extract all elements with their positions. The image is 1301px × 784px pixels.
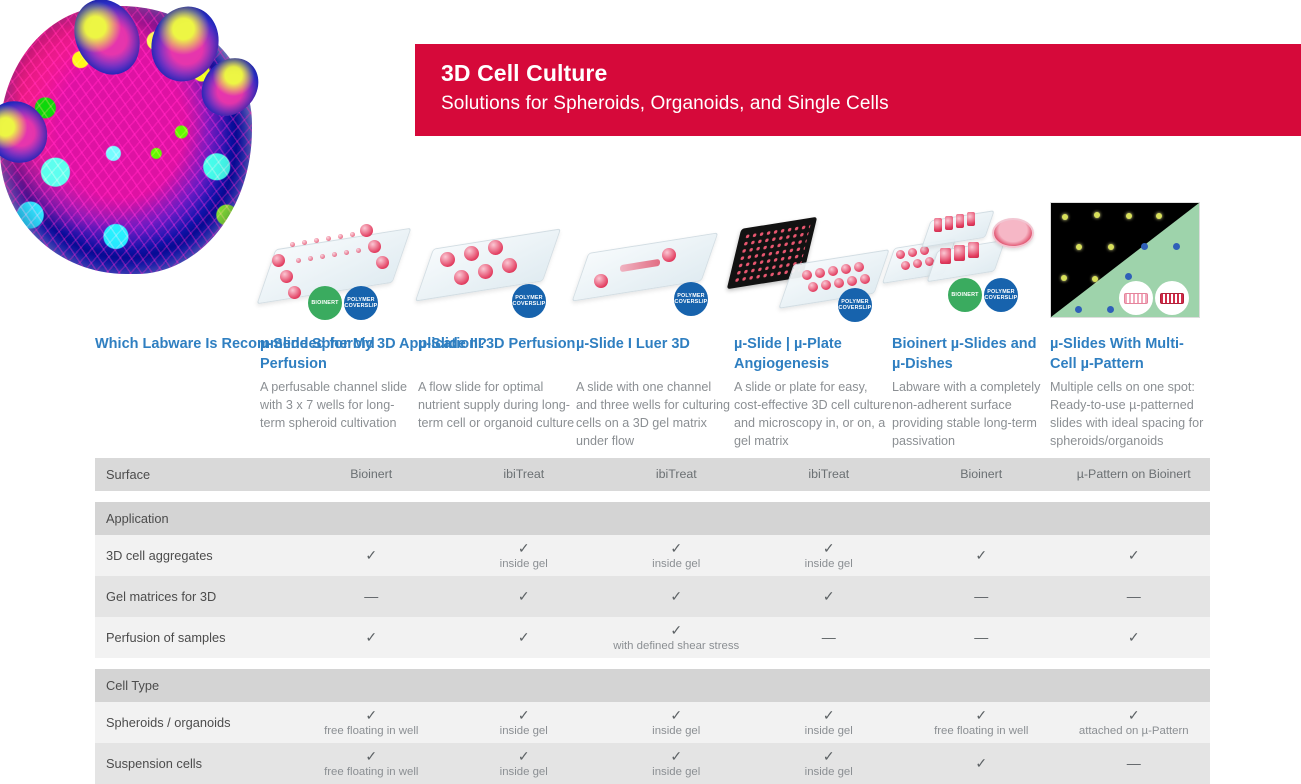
table-cell: ✓ — [600, 588, 753, 606]
page-title: 3D Cell Culture — [441, 60, 1301, 88]
badge-bioinert: BIOINERT — [948, 278, 982, 312]
table-cell: ✓inside gel — [753, 540, 906, 571]
table-cell: ✓with defined shear stress — [600, 622, 753, 653]
product-image-slide-iii-3d-perfusion: POLYMER COVERSLIP — [418, 196, 563, 330]
table-cell: — — [753, 629, 906, 647]
section-title: Cell Type — [95, 678, 295, 693]
table-cell: ✓inside gel — [600, 540, 753, 571]
surface-value: ibiTreat — [600, 467, 753, 482]
product-title: µ-Slides With Multi-Cell µ-Pattern — [1050, 335, 1208, 374]
table-row: Gel matrices for 3D — ✓ ✓ ✓ — — — [95, 576, 1210, 617]
table-cell: ✓ — [905, 755, 1058, 773]
product-description: A slide with one channel and three wells… — [576, 378, 734, 451]
surface-value: ibiTreat — [753, 467, 906, 482]
table-cell: ✓free floating in well — [905, 707, 1058, 738]
table-cell: ✓attached on µ-Pattern — [1058, 707, 1211, 738]
table-spacer — [95, 491, 1210, 502]
table-cell: ✓free floating in well — [295, 707, 448, 738]
row-label: Spheroids / organoids — [95, 715, 295, 730]
section-title: Application — [95, 511, 295, 526]
table-cell: ✓ — [905, 547, 1058, 565]
product-column-bioinert-slides-dishes[interactable]: BIOINERT POLYMER COVERSLIP Bioinert µ-Sl… — [892, 196, 1050, 456]
product-image-slide-i-luer-3d: POLYMER COVERSLIP — [576, 196, 721, 330]
badge-polymer-coverslip: POLYMER COVERSLIP — [674, 282, 708, 316]
product-column-slide-iii-3d-perfusion[interactable]: POLYMER COVERSLIP µ-Slide III 3D Perfusi… — [418, 196, 576, 456]
comparison-table: Surface Bioinert ibiTreat ibiTreat ibiTr… — [95, 458, 1210, 784]
product-description: Labware with a completely non-adherent s… — [892, 378, 1050, 451]
surface-value: Bioinert — [295, 467, 448, 482]
table-row: 3D cell aggregates ✓ ✓inside gel ✓inside… — [95, 535, 1210, 576]
table-row: Spheroids / organoids ✓free floating in … — [95, 702, 1210, 743]
micropattern-inset-slide — [1155, 281, 1189, 315]
table-row-surface: Surface Bioinert ibiTreat ibiTreat ibiTr… — [95, 458, 1210, 491]
product-image-multicell-micropattern — [1050, 196, 1195, 330]
row-label: 3D cell aggregates — [95, 548, 295, 563]
product-column-slide-i-luer-3d[interactable]: POLYMER COVERSLIP µ-Slide I Luer 3D A sl… — [576, 196, 734, 456]
product-column-spheroid-perfusion[interactable]: BIOINERT POLYMER COVERSLIP µ-Slide Spher… — [260, 196, 418, 456]
table-row: Perfusion of samples ✓ ✓ ✓with defined s… — [95, 617, 1210, 658]
table-cell: ✓ — [295, 629, 448, 647]
row-label: Perfusion of samples — [95, 630, 295, 645]
product-title: µ-Slide | µ-Plate Angiogenesis — [734, 335, 892, 374]
table-cell: ✓ — [448, 588, 601, 606]
dish-icon — [992, 218, 1034, 248]
product-description: A flow slide for optimal nutrient supply… — [418, 378, 576, 432]
table-cell: — — [1058, 755, 1211, 773]
product-columns: Which Labware Is Recommended for My 3D A… — [95, 196, 1301, 456]
table-spacer — [95, 658, 1210, 669]
table-cell: — — [905, 588, 1058, 606]
table-cell: ✓ — [1058, 547, 1211, 565]
badge-polymer-coverslip: POLYMER COVERSLIP — [344, 286, 378, 320]
table-cell: ✓ — [1058, 629, 1211, 647]
product-image-spheroid-perfusion: BIOINERT POLYMER COVERSLIP — [260, 196, 405, 330]
table-cell: ✓inside gel — [448, 707, 601, 738]
table-cell: ✓inside gel — [753, 707, 906, 738]
product-description: A perfusable channel slide with 3 x 7 we… — [260, 378, 418, 432]
micropattern-inset-slide — [1119, 281, 1153, 315]
table-cell: — — [295, 588, 448, 606]
product-image-angiogenesis: POLYMER COVERSLIP — [734, 196, 879, 330]
badge-bioinert: BIOINERT — [308, 286, 342, 320]
surface-value: µ-Pattern on Bioinert — [1058, 467, 1211, 482]
product-title: Bioinert µ-Slides and µ-Dishes — [892, 335, 1050, 374]
table-cell: ✓ — [753, 588, 906, 606]
product-title: µ-Slide I Luer 3D — [576, 335, 690, 355]
product-title: µ-Slide III 3D Perfusion — [418, 335, 575, 355]
micropattern-microscopy-image — [1050, 202, 1200, 318]
table-cell: ✓ — [295, 547, 448, 565]
table-cell: ✓inside gel — [600, 707, 753, 738]
badge-polymer-coverslip: POLYMER COVERSLIP — [838, 288, 872, 322]
table-cell: — — [905, 629, 1058, 647]
product-title: µ-Slide Spheroid Perfusion — [260, 335, 418, 374]
product-description: A slide or plate for easy, cost-effectiv… — [734, 378, 892, 451]
row-label: Surface — [95, 467, 295, 482]
table-section-cell-type: Cell Type — [95, 669, 1210, 702]
product-image-bioinert-slides-dishes: BIOINERT POLYMER COVERSLIP — [892, 196, 1037, 330]
table-cell: ✓ — [448, 629, 601, 647]
table-cell: — — [1058, 588, 1211, 606]
table-cell: ✓inside gel — [448, 540, 601, 571]
table-section-application: Application — [95, 502, 1210, 535]
surface-value: Bioinert — [905, 467, 1058, 482]
question-column: Which Labware Is Recommended for My 3D A… — [95, 196, 260, 456]
page-subtitle: Solutions for Spheroids, Organoids, and … — [441, 92, 1301, 116]
badge-polymer-coverslip: POLYMER COVERSLIP — [512, 284, 546, 318]
product-column-multicell-micropattern[interactable]: µ-Slides With Multi-Cell µ-Pattern Multi… — [1050, 196, 1208, 456]
badge-polymer-coverslip: POLYMER COVERSLIP — [984, 278, 1018, 312]
row-label: Gel matrices for 3D — [95, 589, 295, 604]
product-column-angiogenesis[interactable]: POLYMER COVERSLIP µ-Slide | µ-Plate Angi… — [734, 196, 892, 456]
product-description: Multiple cells on one spot: Ready-to-use… — [1050, 378, 1208, 451]
page-header-banner: 3D Cell Culture Solutions for Spheroids,… — [415, 44, 1301, 136]
surface-value: ibiTreat — [448, 467, 601, 482]
